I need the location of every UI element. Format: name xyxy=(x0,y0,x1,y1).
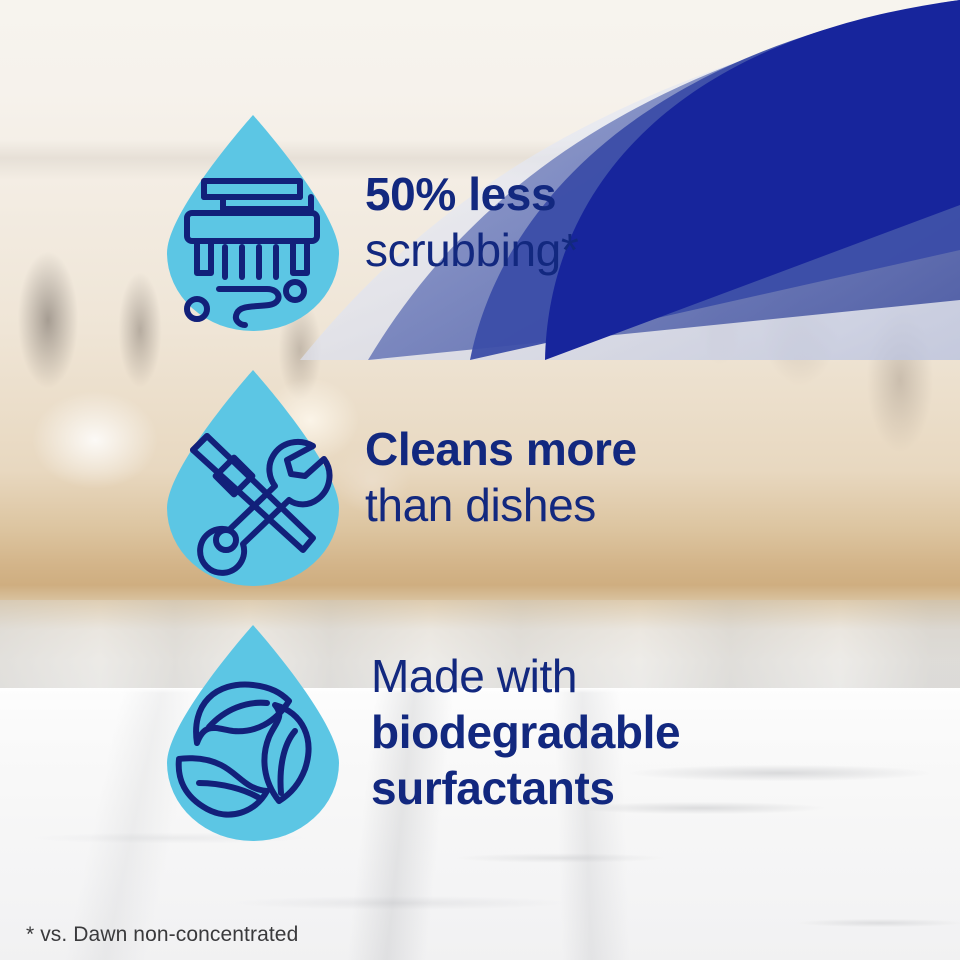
benefit-item: 50% less scrubbing* xyxy=(163,113,578,331)
benefit-text: Made with biodegradable surfactants xyxy=(371,648,680,816)
footnote-disclaimer: * vs. Dawn non-concentrated xyxy=(26,921,298,949)
benefit-item: Cleans more than dishes xyxy=(163,368,637,586)
benefit-line: than dishes xyxy=(365,477,637,533)
benefits-list: 50% less scrubbing* xyxy=(0,0,960,960)
tools-wrench-screwdriver-icon xyxy=(163,368,343,586)
benefit-item: Made with biodegradable surfactants xyxy=(163,623,680,841)
benefit-line: scrubbing* xyxy=(365,222,578,278)
benefit-line: biodegradable xyxy=(371,704,680,760)
product-benefits-graphic: 50% less scrubbing* xyxy=(0,0,960,960)
droplet-badge xyxy=(163,368,343,586)
scrub-brush-icon xyxy=(163,113,343,331)
droplet-badge xyxy=(163,113,343,331)
benefit-line: Cleans more xyxy=(365,421,637,477)
benefit-text: Cleans more than dishes xyxy=(365,421,637,533)
droplet-badge xyxy=(163,623,343,841)
benefit-line: 50% less xyxy=(365,166,578,222)
benefit-text: 50% less scrubbing* xyxy=(365,166,578,278)
benefit-line: Made with xyxy=(371,648,680,704)
three-leaves-recycle-icon xyxy=(163,623,343,841)
benefit-line: surfactants xyxy=(371,760,680,816)
